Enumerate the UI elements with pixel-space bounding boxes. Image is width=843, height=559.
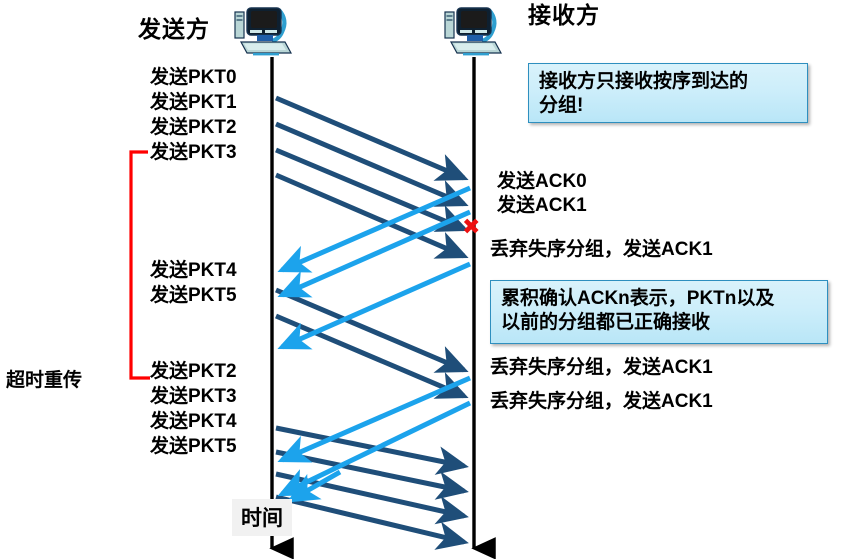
callout-in-order-only: 接收方只接收按序到达的 分组! <box>528 63 808 123</box>
pkt5-retx-arrow <box>276 497 464 542</box>
callout-cumulative-line-2: 以前的分组都已正确接收 <box>501 311 819 335</box>
callout-cumulative-ack: 累积确认ACKn表示，PKTn以及 以前的分组都已正确接收 <box>490 280 828 344</box>
timeout-retransmission-bracket <box>131 152 150 378</box>
callout-in-order-line-1: 接收方只接收按序到达的 <box>539 70 799 94</box>
sender-event-pkt5: 发送PKT5 <box>150 286 237 305</box>
sender-event-pkt1: 发送PKT1 <box>150 93 237 112</box>
receiver-event-discard-1: 丢弃失序分组，发送ACK1 <box>490 240 713 259</box>
sender-event-pkt2-retx: 发送PKT2 <box>150 362 237 381</box>
packet-loss-x-icon: ✖ <box>462 216 480 238</box>
sender-event-pkt3: 发送PKT3 <box>150 143 237 162</box>
callout-cumulative-line-1: 累积确认ACKn表示，PKTn以及 <box>501 287 819 311</box>
receiver-event-ack1: 发送ACK1 <box>497 196 587 215</box>
ack-arrows-group <box>282 188 470 494</box>
timeout-retransmission-label: 超时重传 <box>6 371 82 390</box>
callout-in-order-line-2: 分组! <box>539 94 799 118</box>
packet-arrows-group <box>276 98 464 542</box>
receiver-label: 接收方 <box>528 4 600 27</box>
time-axis-label: 时间 <box>232 499 292 536</box>
gbn-protocol-diagram: ✖ 发送方 接收方 发送PKT0 发送PKT1 发送PKT2 发送PKT3 发送… <box>0 0 843 559</box>
sender-event-pkt3-retx: 发送PKT3 <box>150 387 237 406</box>
sender-event-pkt4-retx: 发送PKT4 <box>150 412 237 431</box>
sender-event-pkt2: 发送PKT2 <box>150 118 237 137</box>
sender-event-pkt4: 发送PKT4 <box>150 261 237 280</box>
sender-label: 发送方 <box>138 18 210 41</box>
ack1-arrow <box>282 212 470 295</box>
sender-event-pkt0: 发送PKT0 <box>150 68 237 87</box>
ack0-arrow <box>282 188 470 270</box>
sender-event-pkt5-retx: 发送PKT5 <box>150 437 237 456</box>
receiver-event-ack0: 发送ACK0 <box>497 172 587 191</box>
receiver-event-discard-2: 丢弃失序分组，发送ACK1 <box>490 358 713 377</box>
receiver-event-discard-3: 丢弃失序分组，发送ACK1 <box>490 392 713 411</box>
